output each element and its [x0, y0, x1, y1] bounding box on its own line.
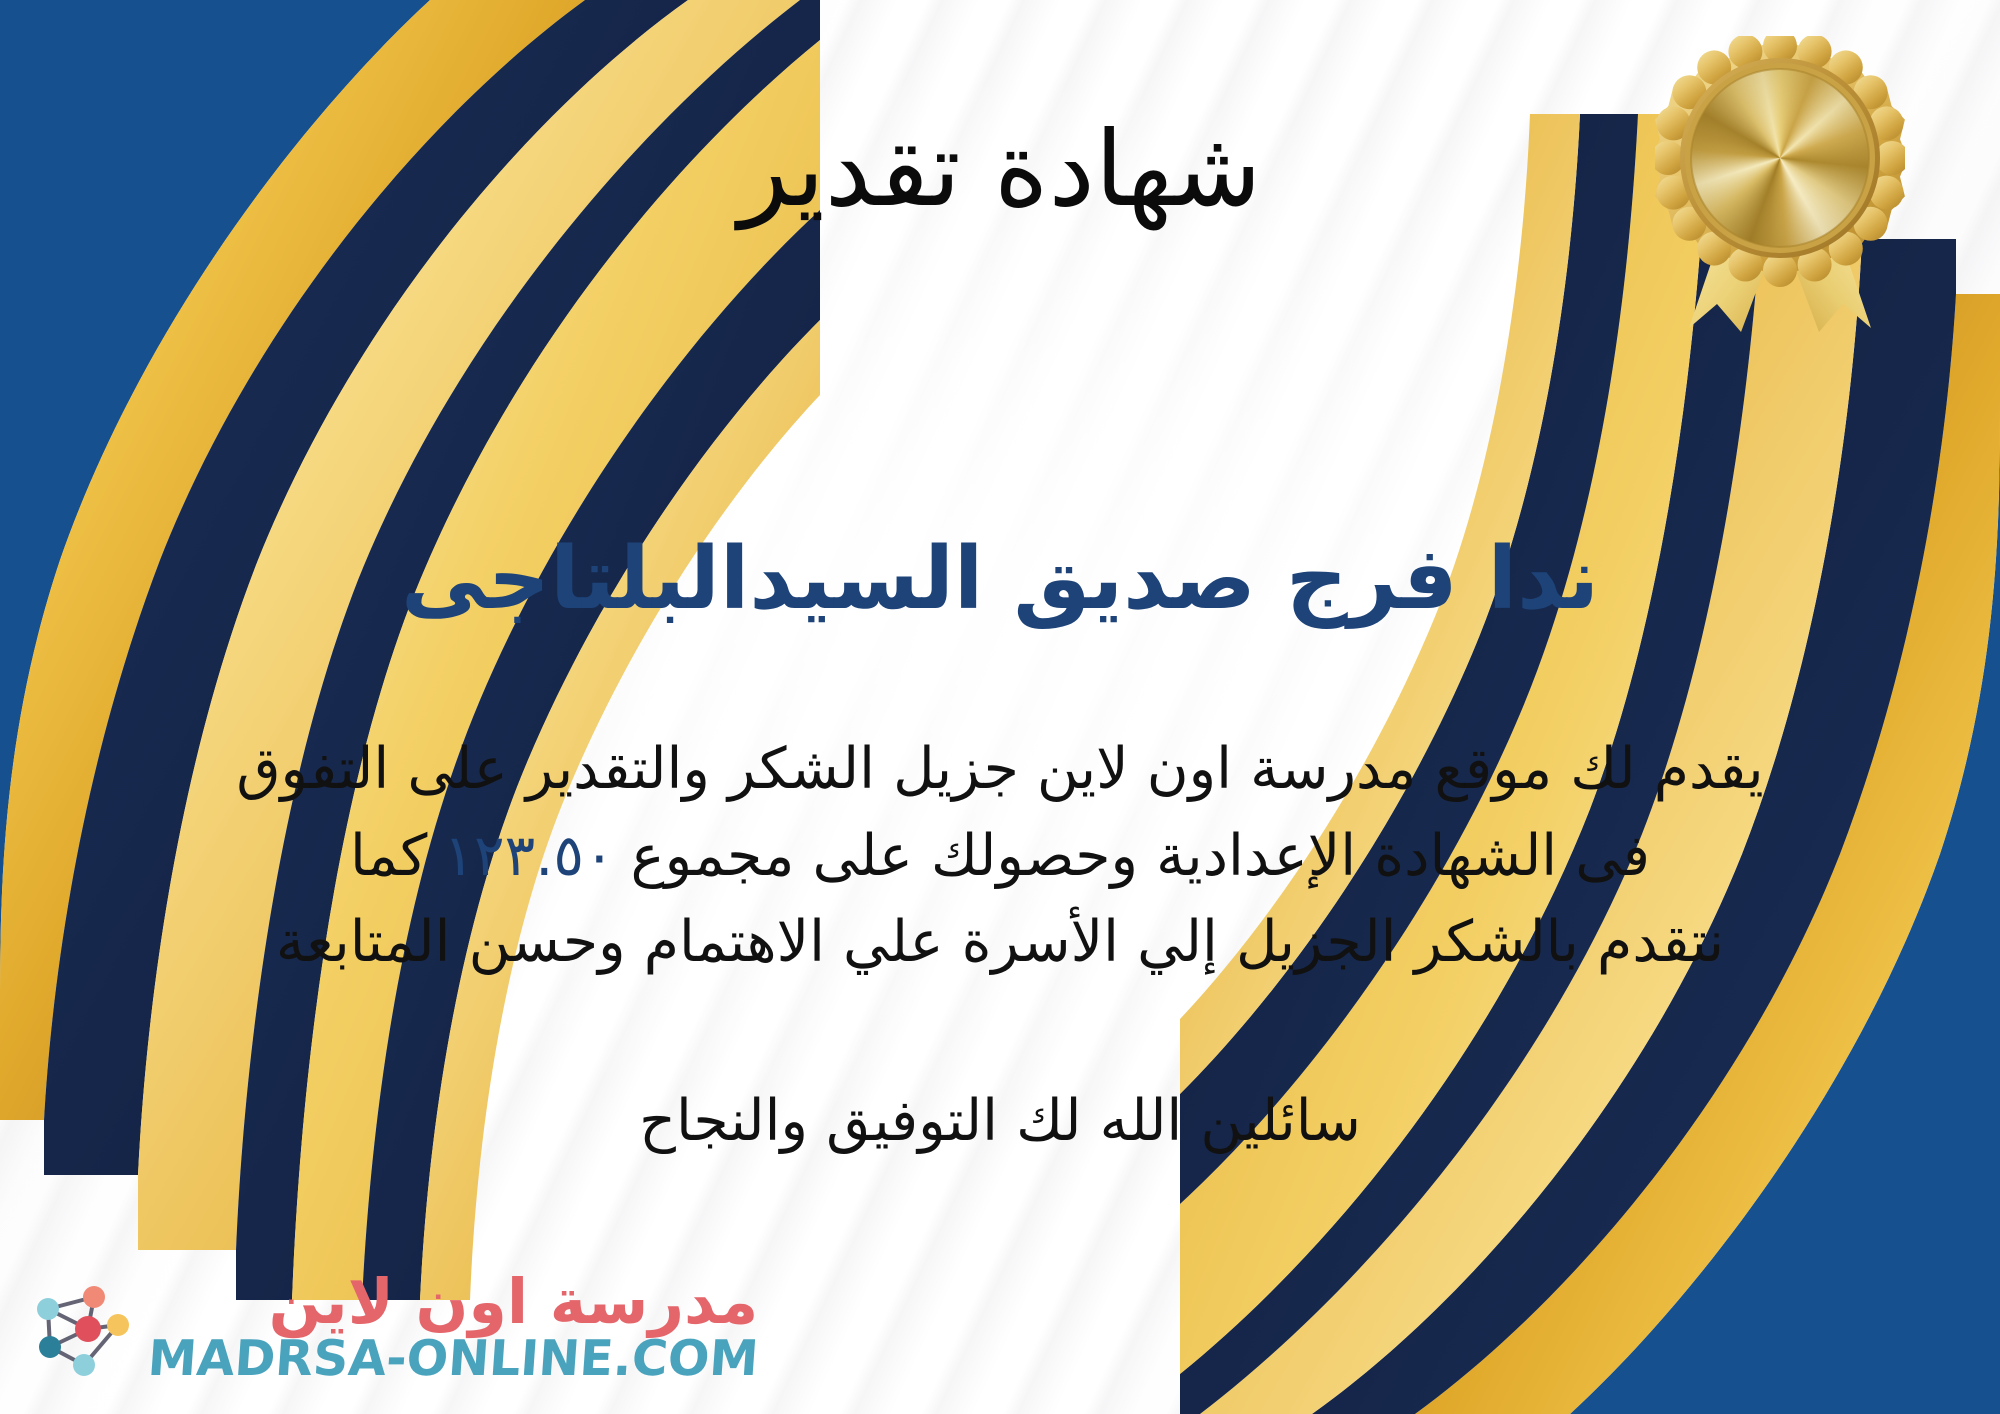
grade-total-value: ١٢٣.٥٠ [427, 823, 630, 889]
closing-wish-text: سائلين الله لك التوفيق والنجاح [0, 1082, 2000, 1162]
brand-text-group: مدرسة اون لاين MADRSA-ONLINE.COM [148, 1271, 758, 1386]
body-line-2-prefix: فى الشهادة الإعدادية وحصولك على مجموع [631, 823, 1650, 889]
brand-arabic-name: مدرسة اون لاين [269, 1271, 759, 1333]
page-title: شهادة تقدير [0, 108, 2000, 231]
certificate-content: شهادة تقدير ندا فرج صديق السيدالبلتاجى ي… [0, 0, 2000, 1414]
certificate-body: يقدم لك موقع مدرسة اون لاين جزيل الشكر و… [40, 726, 1960, 986]
body-line-2-suffix: كما [350, 823, 427, 889]
network-nodes-icon [26, 1275, 134, 1383]
body-line-1: يقدم لك موقع مدرسة اون لاين جزيل الشكر و… [40, 726, 1960, 813]
body-line-3: نتقدم بالشكر الجزيل إلي الأسرة علي الاهت… [40, 899, 1960, 986]
body-line-2: فى الشهادة الإعدادية وحصولك على مجموع١٢٣… [40, 813, 1960, 900]
brand-logo[interactable]: مدرسة اون لاين MADRSA-ONLINE.COM [26, 1271, 758, 1386]
certificate-page: شهادة تقدير ندا فرج صديق السيدالبلتاجى ي… [0, 0, 2000, 1414]
brand-website-url[interactable]: MADRSA-ONLINE.COM [146, 1333, 760, 1386]
recipient-name: ندا فرج صديق السيدالبلتاجى [0, 528, 2000, 631]
